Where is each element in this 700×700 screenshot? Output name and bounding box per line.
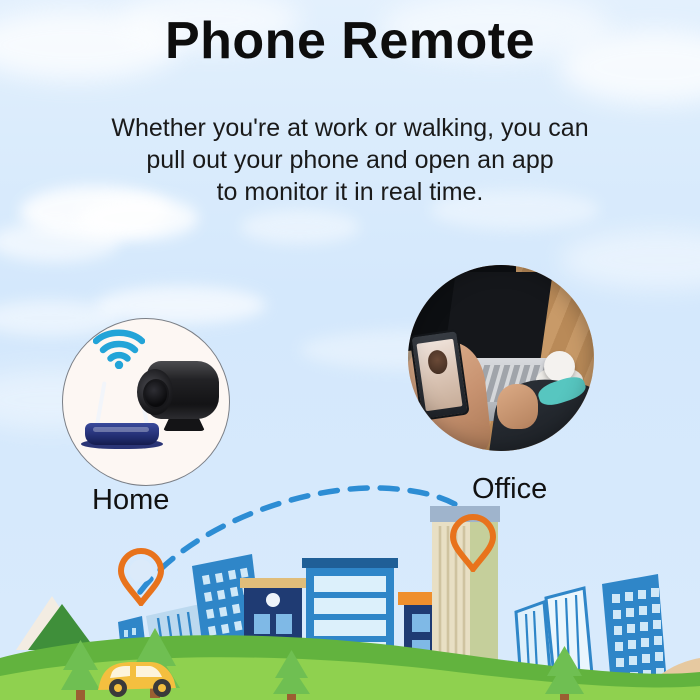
cloud-shape (240, 210, 360, 244)
poster-canvas: Phone Remote Whether you're at work or w… (0, 0, 700, 700)
map-pin-icon-home[interactable] (118, 548, 164, 606)
camera-front (137, 369, 173, 415)
cloud-shape (0, 222, 120, 262)
photo-vignette (408, 265, 594, 451)
mini-camera-illustration (135, 355, 223, 441)
subtitle-line-3: to monitor it in real time. (0, 176, 700, 208)
camera-lens (143, 379, 169, 409)
mountain (16, 596, 96, 650)
phone-usage-photo (408, 265, 594, 451)
cityscape-illustration (0, 500, 700, 700)
page-title: Phone Remote (0, 14, 700, 69)
subtitle-line-2: pull out your phone and open an app (0, 144, 700, 176)
page-subtitle: Whether you're at work or walking, you c… (0, 112, 700, 208)
subtitle-line-1: Whether you're at work or walking, you c… (0, 112, 700, 144)
map-pin-icon-office[interactable] (450, 514, 496, 572)
router-antenna-left (95, 381, 107, 425)
cloud-shape (96, 286, 266, 324)
